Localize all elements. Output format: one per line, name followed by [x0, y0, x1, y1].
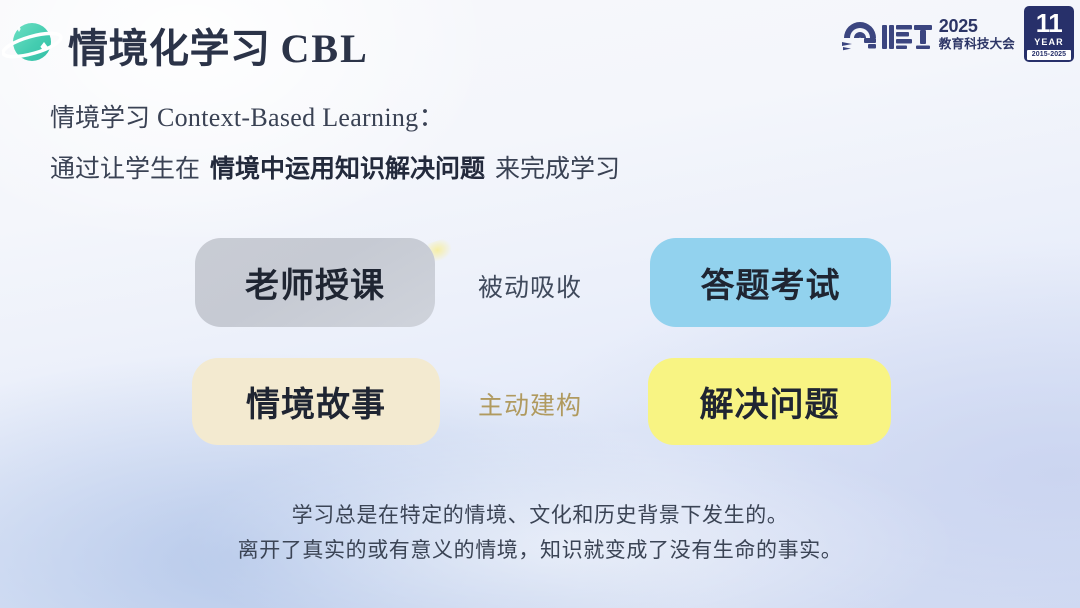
- label-passive-absorption: 被动吸收: [455, 268, 605, 304]
- pill-solve-problem[interactable]: 解决问题: [648, 358, 891, 445]
- pill-solve-problem-label: 解决问题: [700, 377, 840, 426]
- page-title-cn: 情境化学习: [68, 27, 271, 71]
- badge-range: 2015-2025: [1027, 50, 1071, 60]
- pill-context-story-label: 情境故事: [246, 377, 386, 426]
- planet-icon: [2, 18, 64, 70]
- logo-year: 2025: [939, 17, 1015, 35]
- definition-cn: 情境学习: [50, 104, 150, 132]
- method-suffix: 来完成学习: [495, 155, 620, 183]
- badge-number: 11: [1036, 10, 1063, 36]
- method-highlight: 情境中运用知识解决问题: [207, 155, 488, 183]
- method-line: 通过让学生在 情境中运用知识解决问题 来完成学习: [50, 150, 620, 188]
- get-logo-text: 2025 教育科技大会: [939, 17, 1015, 51]
- pill-teacher-lecture[interactable]: 老师授课: [195, 238, 435, 327]
- quote-line-2: 离开了真实的或有意义的情境，知识就变成了没有生命的事实。: [0, 533, 1080, 569]
- get-logo-mark: [842, 16, 934, 52]
- method-prefix: 通过让学生在: [50, 155, 200, 183]
- get-logo: 2025 教育科技大会: [842, 16, 1015, 52]
- definition-line: 情境学习 Context-Based Learning：: [50, 100, 445, 136]
- quote-line-1: 学习总是在特定的情境、文化和历史背景下发生的。: [0, 498, 1080, 534]
- definition-latin: Context-Based Learning：: [157, 103, 445, 132]
- anniversary-badge: 11 YEAR 2015-2025: [1024, 6, 1074, 62]
- pill-teacher-lecture-label: 老师授课: [245, 258, 385, 307]
- conference-logo: 2025 教育科技大会 11 YEAR 2015-2025: [842, 6, 1074, 62]
- slide-canvas: 情境化学习CBL: [0, 0, 1080, 608]
- label-passive-absorption-text: 被动吸收: [478, 274, 582, 302]
- label-active-construction-text: 主动建构: [478, 392, 582, 420]
- label-active-construction: 主动建构: [455, 386, 605, 422]
- pill-context-story[interactable]: 情境故事: [192, 358, 440, 445]
- page-title: 情境化学习CBL: [68, 24, 369, 74]
- pill-exam-answering-label: 答题考试: [701, 258, 841, 307]
- badge-unit: YEAR: [1034, 37, 1063, 47]
- page-title-latin: CBL: [271, 26, 369, 71]
- pill-exam-answering[interactable]: 答题考试: [650, 238, 891, 327]
- logo-conference-name: 教育科技大会: [939, 38, 1015, 51]
